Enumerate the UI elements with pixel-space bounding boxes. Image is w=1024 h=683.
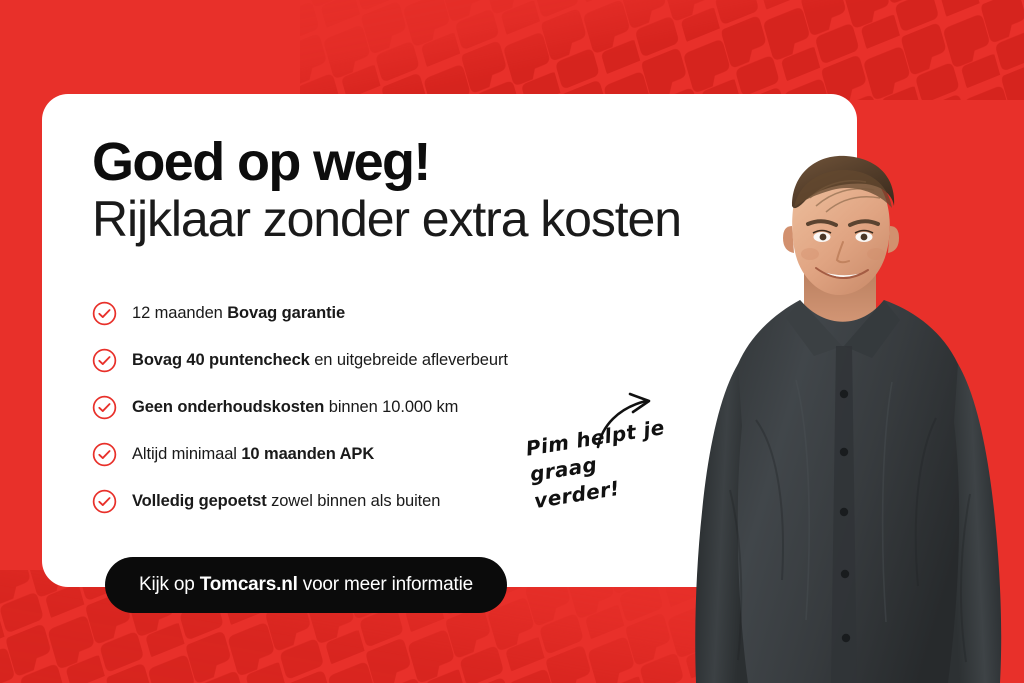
cta-brand: Tomcars.nl: [200, 574, 298, 595]
list-item-label: Volledig gepoetst zowel binnen als buite…: [132, 492, 440, 511]
list-item-label: Geen onderhoudskosten binnen 10.000 km: [132, 398, 458, 417]
check-circle-icon: [92, 395, 117, 420]
feature-prefix: Altijd minimaal: [132, 445, 241, 463]
list-item: 12 maanden Bovag garantie: [92, 290, 732, 337]
list-item-label: Bovag 40 puntencheck en uitgebreide afle…: [132, 351, 508, 370]
feature-highlight: Bovag garantie: [227, 304, 345, 322]
list-item-label: Altijd minimaal 10 maanden APK: [132, 445, 374, 464]
feature-highlight: Geen onderhoudskosten: [132, 398, 324, 416]
check-circle-icon: [92, 301, 117, 326]
feature-highlight: Volledig gepoetst: [132, 492, 267, 510]
cta-prefix: Kijk op: [139, 574, 200, 595]
annotation-text: Pim helpt je graag verder!: [524, 411, 694, 514]
content-card: Goed op weg! Rijklaar zonder extra koste…: [42, 94, 857, 587]
feature-suffix: zowel binnen als buiten: [267, 492, 441, 510]
list-item: Bovag 40 puntencheck en uitgebreide afle…: [92, 337, 732, 384]
feature-highlight: Bovag 40 puntencheck: [132, 351, 310, 369]
check-circle-icon: [92, 348, 117, 373]
cta-button[interactable]: Kijk op Tomcars.nl voor meer informatie: [105, 557, 507, 613]
headline-block: Goed op weg! Rijklaar zonder extra koste…: [92, 136, 792, 247]
check-circle-icon: [92, 442, 117, 467]
list-item-label: 12 maanden Bovag garantie: [132, 304, 345, 323]
cta-suffix: voor meer informatie: [298, 574, 473, 595]
feature-prefix: 12 maanden: [132, 304, 227, 322]
promo-banner: Goed op weg! Rijklaar zonder extra koste…: [0, 0, 1024, 683]
check-circle-icon: [92, 489, 117, 514]
feature-suffix: binnen 10.000 km: [324, 398, 458, 416]
feature-suffix: en uitgebreide afleverbeurt: [310, 351, 508, 369]
feature-highlight: 10 maanden APK: [241, 445, 374, 463]
page-title: Goed op weg!: [92, 136, 792, 189]
page-subtitle: Rijklaar zonder extra kosten: [92, 191, 792, 247]
cta-label: Kijk op Tomcars.nl voor meer informatie: [139, 574, 473, 596]
handwritten-annotation: Pim helpt je graag verder!: [522, 392, 702, 522]
